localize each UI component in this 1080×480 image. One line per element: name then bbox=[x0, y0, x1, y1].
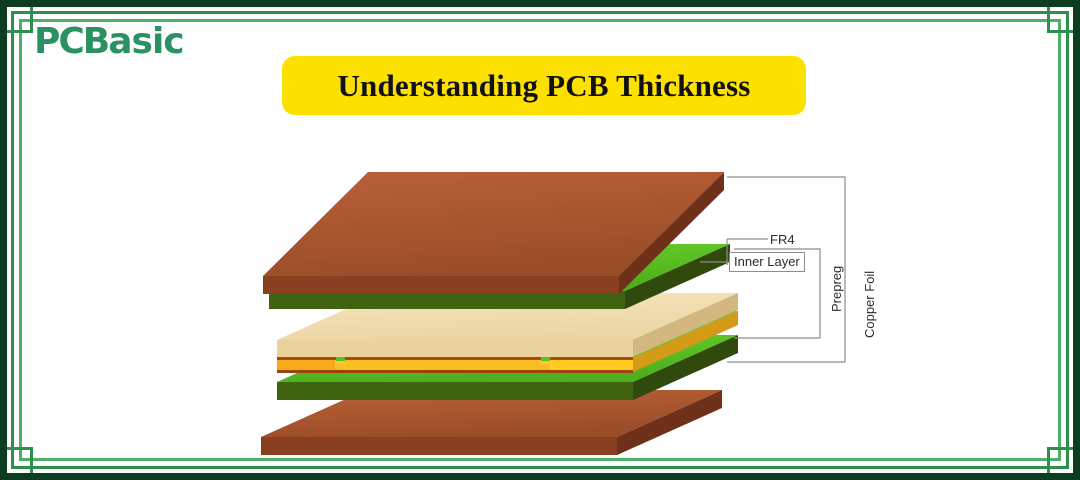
callout-label-prepreg: Prepreg bbox=[829, 266, 844, 312]
infographic-canvas: PCBasic Understanding PCB Thickness bbox=[0, 0, 1080, 480]
pcb-stackup-diagram bbox=[0, 0, 1080, 480]
callout-label-inner-layer: Inner Layer bbox=[729, 252, 805, 272]
callout-label-copper-foil: Copper Foil bbox=[862, 271, 877, 338]
callout-label-fr4: FR4 bbox=[770, 232, 795, 247]
